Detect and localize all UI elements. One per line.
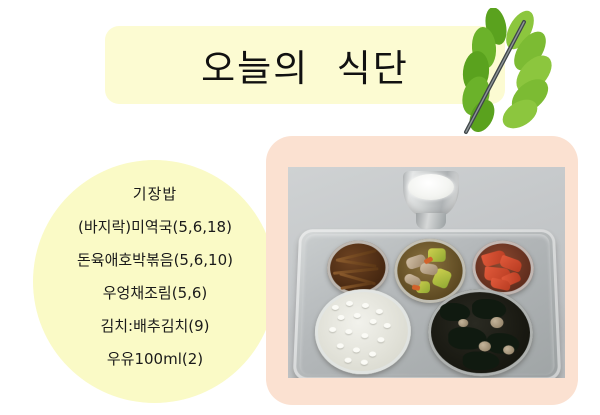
lunch-tray xyxy=(293,229,562,378)
menu-item-4: 김치:배추김치(9) xyxy=(20,310,290,343)
menu-list: 기장밥 (바지락)미역국(5,6,18) 돈육애호박볶음(5,6,10) 우엉채… xyxy=(20,178,290,376)
menu-item-5: 우유100ml(2) xyxy=(20,343,290,376)
menu-item-2: 돈육애호박볶음(5,6,10) xyxy=(20,244,290,277)
menu-item-3: 우엉채조림(5,6) xyxy=(20,277,290,310)
menu-item-1: (바지락)미역국(5,6,18) xyxy=(20,211,290,244)
kimchi-side xyxy=(472,241,535,295)
milk-cup xyxy=(400,171,462,231)
menu-slide: 오늘의 식단 기장밥 ( xyxy=(0,0,600,415)
soup-bowl xyxy=(428,289,535,376)
rice-bowl xyxy=(313,289,411,374)
page-title: 오늘의 식단 xyxy=(105,26,505,104)
lunch-tray-photo xyxy=(288,167,565,378)
menu-item-0: 기장밥 xyxy=(20,178,290,211)
